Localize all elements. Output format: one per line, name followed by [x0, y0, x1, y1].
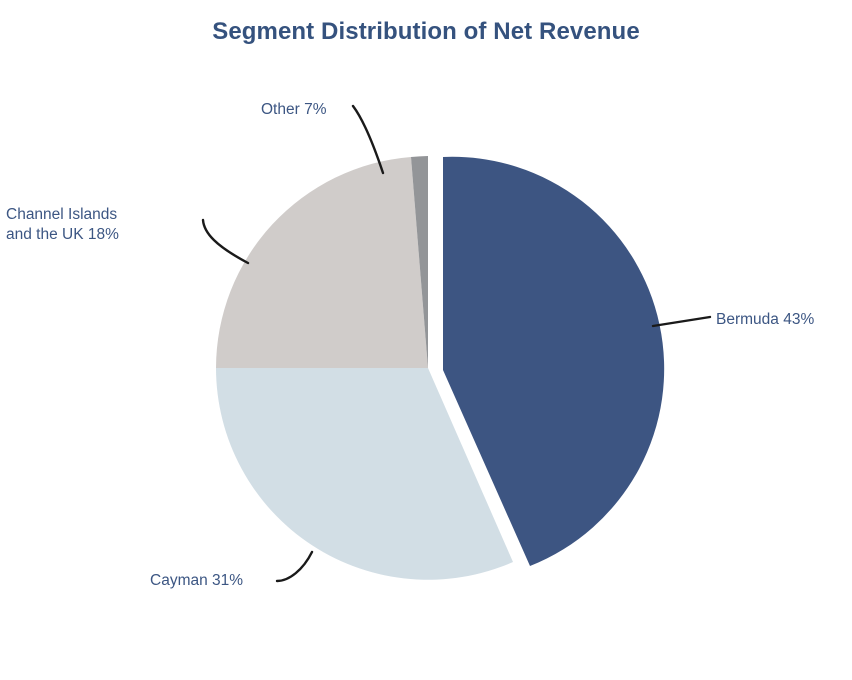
pie-graphic: [0, 0, 852, 680]
leader-line-bermuda: [653, 317, 710, 326]
slice-label-channel-islands: Channel Islands and the UK 18%: [6, 205, 119, 245]
slice-label-bermuda: Bermuda 43%: [716, 310, 814, 330]
leader-line-channel-islands: [203, 220, 248, 263]
slice-label-other: Other 7%: [261, 100, 326, 120]
leader-line-cayman: [277, 552, 312, 581]
slice-label-cayman: Cayman 31%: [150, 571, 243, 591]
pie-chart: Segment Distribution of Net Revenue Berm…: [0, 0, 852, 680]
leader-line-other: [353, 106, 383, 173]
